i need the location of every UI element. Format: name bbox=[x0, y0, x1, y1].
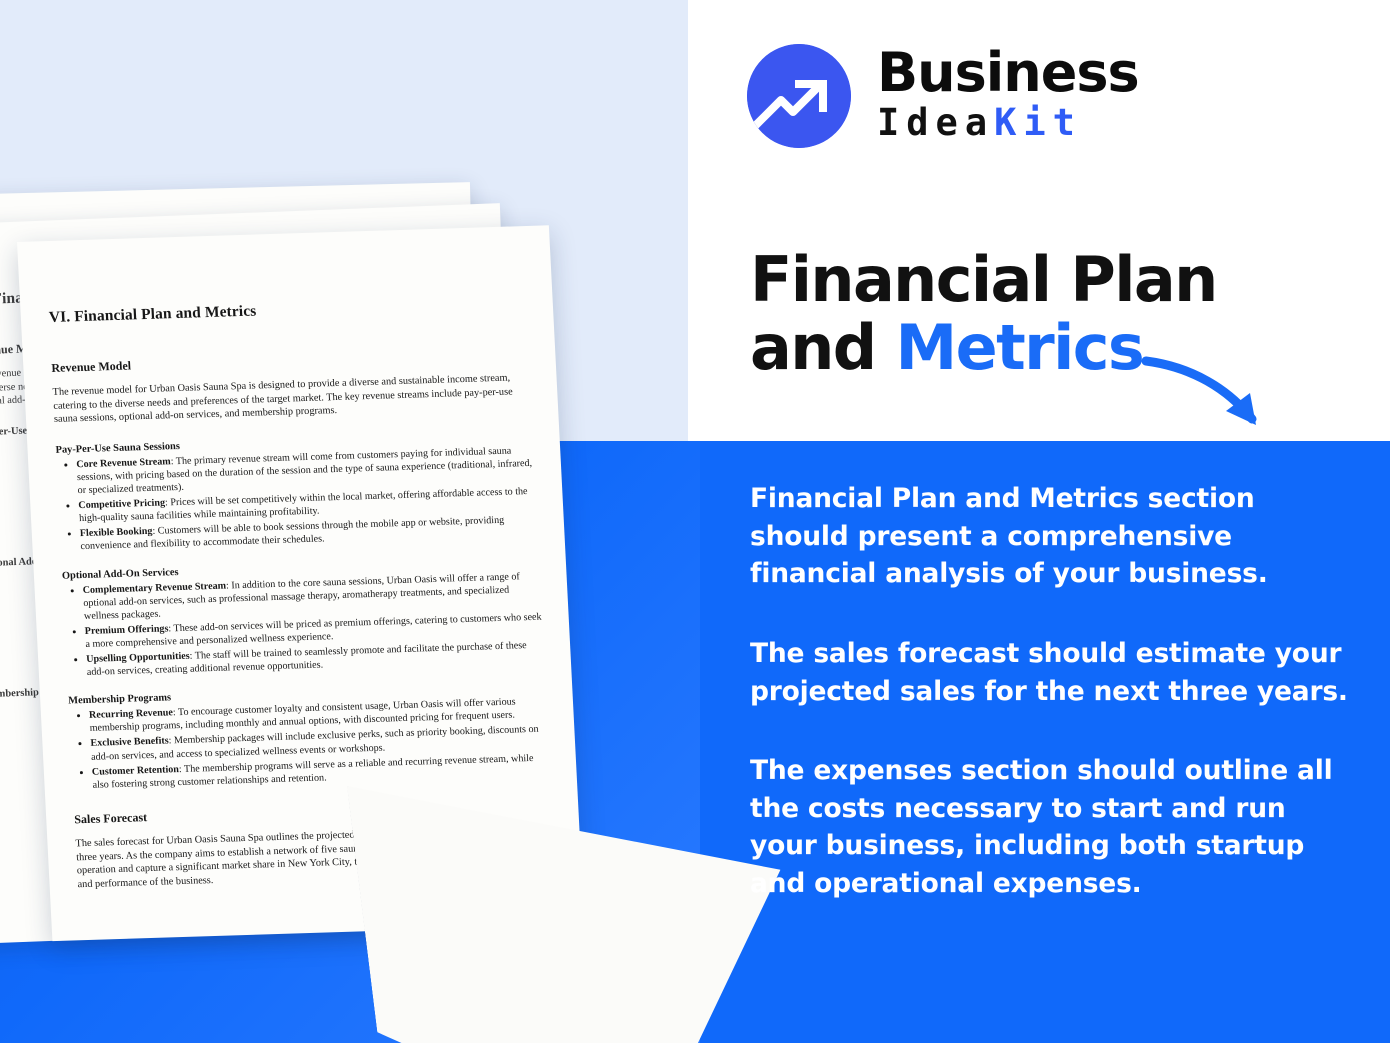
doc-bullet-term: Customer Retention bbox=[92, 764, 180, 778]
doc-bullet-term: Premium Offerings bbox=[85, 623, 169, 637]
doc-bullet-list-pay-per-use: Core Revenue Stream: The primary revenue… bbox=[56, 443, 541, 554]
description-text: Financial Plan and Metrics section shoul… bbox=[750, 480, 1350, 903]
trend-arrow-up-circle-icon bbox=[747, 44, 851, 148]
doc-bullet-term: Upselling Opportunities bbox=[86, 651, 190, 665]
slide-canvas: VI. Financial Plan and Metrics Revenue M… bbox=[0, 0, 1390, 1043]
doc-section-heading-revenue-model: Revenue Model bbox=[51, 346, 532, 376]
brand-logo: Business IdeaKit bbox=[747, 44, 1139, 148]
doc-bullet-term: Flexible Booking bbox=[80, 526, 153, 539]
brand-name-line1: Business bbox=[877, 46, 1139, 100]
brand-name-line2: IdeaKit bbox=[877, 100, 1139, 146]
doc-paragraph-revenue-model: The revenue model for Urban Oasis Sauna … bbox=[52, 371, 534, 427]
page-title-and: and bbox=[750, 311, 896, 384]
doc-bullet-term: Core Revenue Stream bbox=[76, 456, 171, 470]
doc-bullet-term: Competitive Pricing bbox=[78, 498, 165, 512]
brand-name-idea: Idea bbox=[877, 101, 994, 144]
document-stack: VI. Financial Plan and Metrics Revenue M… bbox=[0, 0, 760, 1043]
doc-bullet-term: Recurring Revenue bbox=[89, 708, 173, 722]
brand-wordmark: Business IdeaKit bbox=[877, 46, 1139, 146]
curved-arrow-down-right-icon bbox=[1140, 345, 1290, 445]
page-title-line1: Financial Plan bbox=[750, 246, 1310, 314]
page-title-metrics: Metrics bbox=[896, 311, 1144, 384]
doc-bullet-list-membership: Recurring Revenue: To encourage customer… bbox=[69, 695, 553, 793]
description-paragraph-2: The sales forecast should estimate your … bbox=[750, 635, 1350, 710]
description-paragraph-1: Financial Plan and Metrics section shoul… bbox=[750, 480, 1350, 593]
doc-bullet-term: Exclusive Benefits bbox=[90, 736, 169, 749]
brand-name-kit: Kit bbox=[994, 101, 1082, 144]
document-page-front-wrapper: VI. Financial Plan and Metrics Revenue M… bbox=[17, 241, 549, 941]
description-paragraph-3: The expenses section should outline all … bbox=[750, 752, 1350, 903]
doc-bullet-list-add-on: Complementary Revenue Stream: In additio… bbox=[62, 569, 547, 680]
doc-title: VI. Financial Plan and Metrics bbox=[48, 294, 529, 327]
